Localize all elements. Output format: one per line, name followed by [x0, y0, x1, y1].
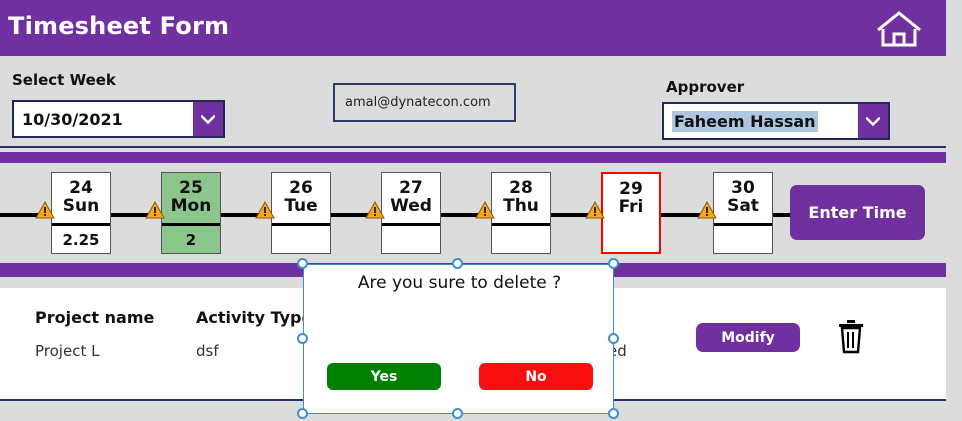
- day-card-head: 24 Sun: [52, 173, 110, 223]
- day-hours-value: [603, 227, 659, 255]
- select-week-value: 10/30/2021: [14, 102, 193, 136]
- day-card-thu[interactable]: 28 Thu: [491, 172, 551, 254]
- day-card-sun[interactable]: 24 Sun 2.25: [51, 172, 111, 254]
- page-title: Timesheet Form: [8, 12, 229, 40]
- approver-value: Faheem Hassan: [672, 111, 818, 132]
- day-card-sat[interactable]: 30 Sat: [713, 172, 773, 254]
- day-card-head: 27 Wed: [382, 173, 440, 223]
- day-name: Fri: [619, 199, 644, 217]
- warning-icon: [255, 201, 275, 219]
- delete-row-button[interactable]: [836, 318, 866, 356]
- day-name: Mon: [171, 198, 212, 216]
- resize-handle-nw[interactable]: [297, 258, 308, 269]
- email-value: amal@dynatecon.com: [345, 95, 491, 110]
- day-name: Tue: [284, 198, 317, 216]
- resize-handle-w[interactable]: [297, 333, 308, 344]
- trash-icon: [836, 318, 866, 356]
- resize-handle-sw[interactable]: [297, 408, 308, 419]
- divider-line-top: [0, 146, 946, 148]
- warning-icon: [145, 201, 165, 219]
- day-card-head: 26 Tue: [272, 173, 330, 223]
- day-card-head: 30 Sat: [714, 173, 772, 223]
- chevron-down-icon: [866, 117, 880, 126]
- day-name: Sat: [727, 198, 759, 216]
- resize-handle-e[interactable]: [608, 333, 619, 344]
- delete-confirm-dialog: Are you sure to delete ? Yes No: [303, 264, 614, 414]
- resize-handle-se[interactable]: [608, 408, 619, 419]
- right-gutter: [946, 0, 962, 421]
- warning-icon: [475, 201, 495, 219]
- day-hours-value: [382, 226, 440, 254]
- warning-icon: [697, 201, 717, 219]
- email-field[interactable]: amal@dynatecon.com: [333, 83, 516, 122]
- dialog-message: Are you sure to delete ?: [304, 273, 615, 293]
- day-hours-value: [492, 226, 550, 254]
- select-week-chevron-button[interactable]: [193, 102, 223, 136]
- day-card-wed[interactable]: 27 Wed: [381, 172, 441, 254]
- day-hours-value: 2: [162, 226, 220, 254]
- enter-time-button[interactable]: Enter Time: [790, 185, 925, 240]
- warning-icon: [35, 201, 55, 219]
- resize-handle-ne[interactable]: [608, 258, 619, 269]
- chevron-down-icon: [201, 115, 215, 124]
- column-header-activity-type: Activity Type: [196, 308, 312, 327]
- select-week-label: Select Week: [12, 71, 116, 89]
- cell-project-name: Project L: [35, 342, 99, 360]
- filter-band: Select Week 10/30/2021 amal@dynatecon.co…: [0, 56, 946, 146]
- week-strip: 24 Sun 2.25 25 Mon 2: [0, 163, 946, 263]
- day-card-head: 28 Thu: [492, 173, 550, 223]
- cell-activity-type: dsf: [196, 342, 219, 360]
- timesheet-app: Timesheet Form Select Week 10/30/2021 am…: [0, 0, 946, 421]
- home-icon[interactable]: [874, 10, 924, 48]
- day-card-mon[interactable]: 25 Mon 2: [161, 172, 221, 254]
- day-hours-value: [714, 226, 772, 254]
- warning-icon: [585, 201, 605, 219]
- resize-handle-s[interactable]: [452, 408, 463, 419]
- resize-handle-n[interactable]: [452, 258, 463, 269]
- day-card-fri[interactable]: 29 Fri: [601, 172, 661, 254]
- approver-chevron-button[interactable]: [858, 104, 888, 138]
- modify-button[interactable]: Modify: [696, 323, 800, 352]
- day-hours-value: 2.25: [52, 226, 110, 254]
- warning-icon: [365, 201, 385, 219]
- approver-label: Approver: [666, 78, 744, 96]
- dialog-no-button[interactable]: No: [479, 363, 593, 390]
- day-card-tue[interactable]: 26 Tue: [271, 172, 331, 254]
- day-card-head: 29 Fri: [603, 174, 659, 224]
- select-week-dropdown[interactable]: 10/30/2021: [12, 100, 225, 138]
- day-name: Wed: [390, 198, 432, 216]
- column-header-project-name: Project name: [35, 308, 154, 327]
- app-titlebar: Timesheet Form: [0, 0, 946, 56]
- day-name: Sun: [63, 198, 99, 216]
- day-card-head: 25 Mon: [162, 173, 220, 223]
- approver-value-wrap: Faheem Hassan: [664, 104, 858, 138]
- dialog-yes-button[interactable]: Yes: [327, 363, 441, 390]
- day-name: Thu: [503, 198, 539, 216]
- day-hours-value: [272, 226, 330, 254]
- approver-dropdown[interactable]: Faheem Hassan: [662, 102, 890, 140]
- purple-divider-upper: [0, 152, 946, 163]
